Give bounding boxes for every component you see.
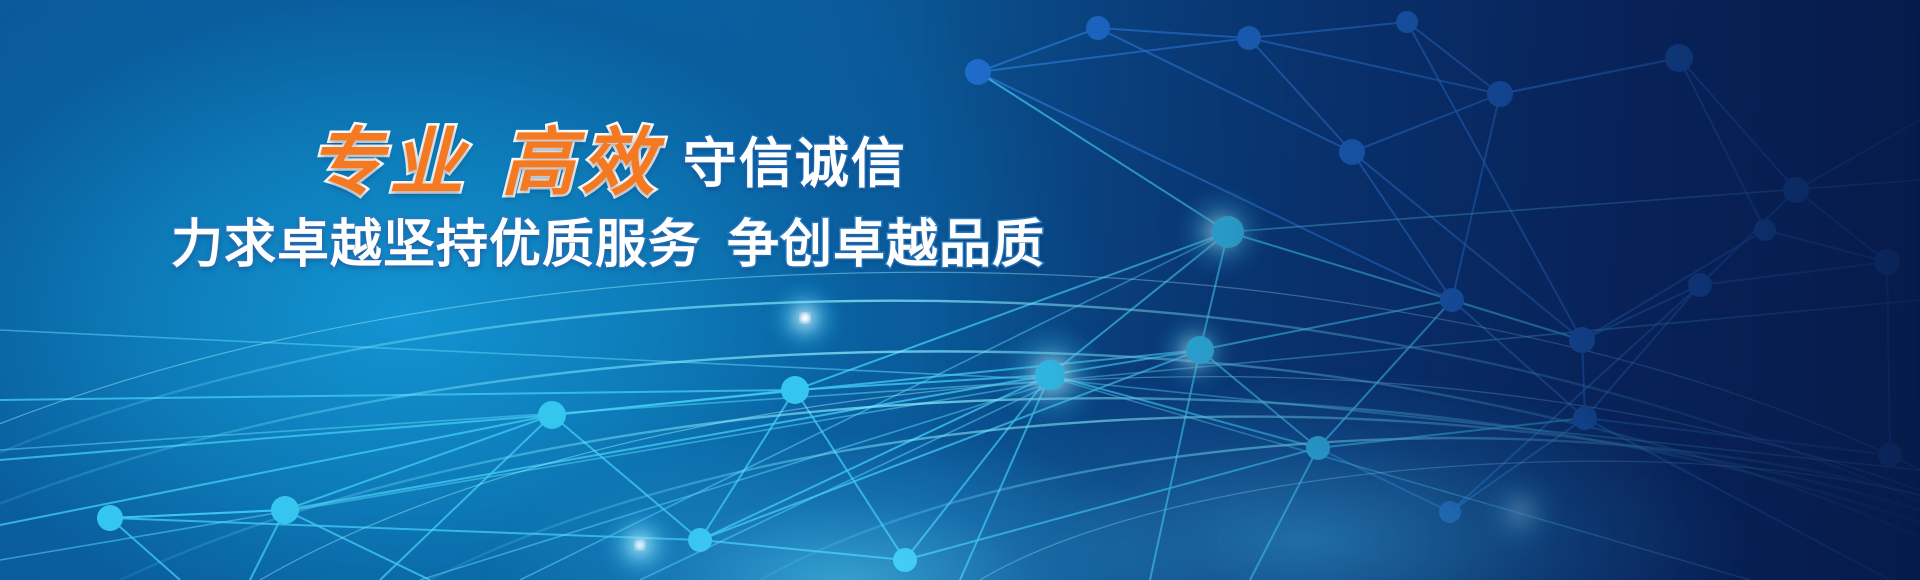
bottom-glow <box>0 280 1920 580</box>
promo-banner: 专业 高效守信诚信 力求卓越坚持优质服务争创卓越品质 <box>0 0 1920 580</box>
